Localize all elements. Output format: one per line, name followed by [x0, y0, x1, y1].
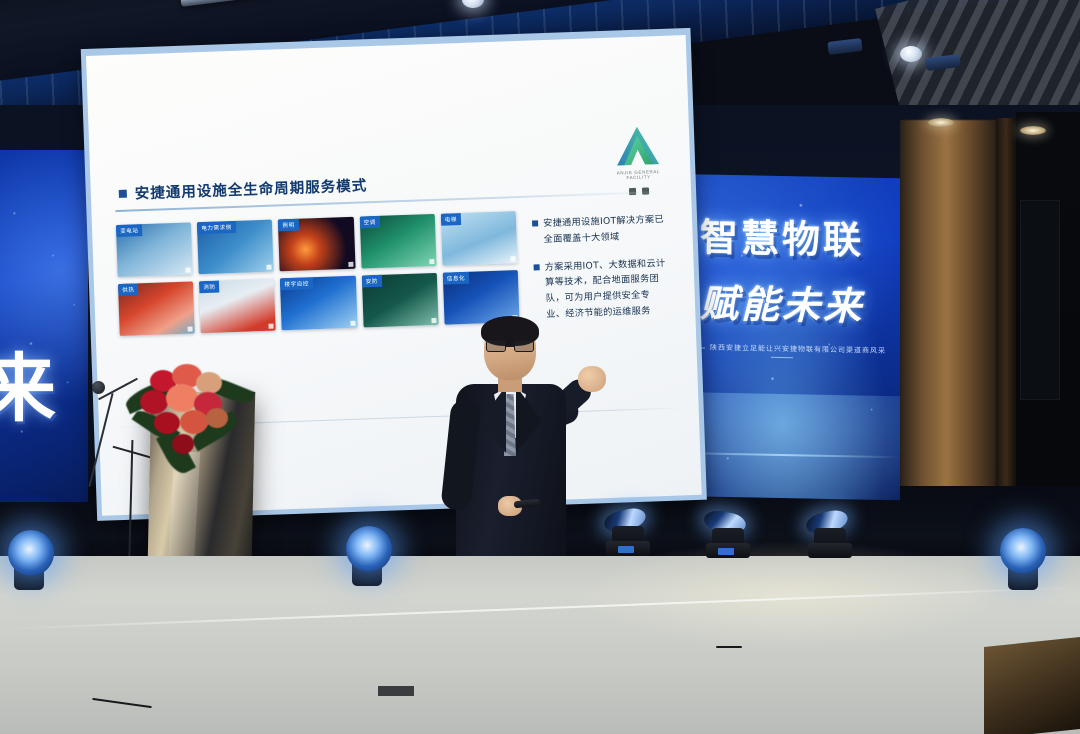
thumbnail-corner-mark-icon: [267, 265, 272, 270]
moving-head-badge: [618, 546, 634, 553]
thumbnail-corner-mark-icon: [269, 324, 274, 329]
glasses-bridge: [506, 345, 514, 347]
floor-cable: [716, 646, 742, 648]
thumbnail-item: 供热: [118, 281, 195, 336]
flower-petal: [166, 384, 198, 412]
glasses-icon: [486, 340, 534, 352]
stage-scene: 来 智慧物联 赋能未来 陕西安捷立足能让兴安捷物联有限公司渠道商风采: [0, 0, 1080, 734]
stage-monitor-wedge: [984, 637, 1080, 734]
led-sparkle-texture: [0, 150, 88, 502]
thumbnail-item: 空调: [359, 214, 436, 269]
title-bullet-square-icon: [119, 190, 127, 198]
stage-light-beam-icon: [8, 530, 54, 576]
led-subtitle-dash-right: [771, 356, 793, 357]
floor-prop-box: [378, 686, 414, 696]
thumbnail-corner-mark-icon: [350, 321, 355, 326]
thumbnail-corner-mark-icon: [510, 256, 515, 261]
led-wall-left-character: 来: [0, 352, 54, 426]
recess-panel: [1020, 200, 1060, 400]
flower-petal: [206, 408, 228, 428]
thumbnail-tag: 供热: [118, 283, 139, 296]
flower-arrangement: [128, 364, 254, 482]
moving-head-badge: [718, 548, 734, 555]
thumbnail-corner-mark-icon: [429, 259, 434, 264]
led-wall-left: 来: [0, 150, 88, 502]
bullet-text: 方案采用IOT、大数据和云计算等技术，配合地面服务团队，可为用户提供安全专业、经…: [544, 256, 667, 323]
flower-petal: [154, 412, 180, 434]
glasses-lens-left: [486, 340, 506, 352]
thumbnail-tag: 电力需求侧: [197, 221, 236, 234]
thumbnail-tag: 消防: [199, 280, 220, 293]
bullet-text: 安捷通用设施IOT解决方案已全面覆盖十大领域: [543, 212, 665, 248]
thumbnail-tag: 变电站: [116, 224, 143, 237]
moving-head-light: [600, 510, 656, 556]
thumbnail-corner-mark-icon: [188, 326, 193, 331]
slide-bullet-list: 安捷通用设施IOT解决方案已全面覆盖十大领域 方案采用IOT、大数据和云计算等技…: [532, 212, 668, 336]
presenter-right-hand: [578, 366, 606, 392]
flower-petal: [180, 410, 208, 434]
moving-head-light: [700, 512, 756, 558]
thumbnail-item: 电力需求侧: [197, 220, 274, 275]
slide-logo: ANJIE GENERAL FACILITY: [607, 124, 670, 201]
ceiling-light-fixture: [827, 38, 862, 55]
triangle-logo-icon: [614, 124, 661, 168]
thumbnail-tag: 信息化: [443, 272, 470, 285]
microphone-icon: [92, 381, 105, 394]
stage-light-beam-icon: [346, 526, 392, 572]
floor-light-pool: [580, 540, 1000, 650]
logo-caption: ANJIE GENERAL FACILITY: [608, 169, 668, 181]
flower-petal: [196, 372, 222, 394]
slide-title-text: 安捷通用设施全生命周期服务模式: [135, 178, 368, 202]
led-subtitle-text: 陕西安捷立足能让兴安捷物联有限公司渠道商风采: [710, 345, 886, 355]
thumbnail-grid: 变电站 电力需求侧 照明 空调 电梯 供热: [116, 211, 520, 336]
thumbnail-item: 安防: [361, 273, 438, 328]
thumbnail-corner-mark-icon: [186, 267, 191, 272]
thumbnail-tag: 楼宇自控: [280, 277, 313, 290]
thumbnail-item: 照明: [278, 217, 355, 272]
led-headline-line1: 智慧物联: [664, 218, 900, 261]
thumbnail-corner-mark-icon: [348, 262, 353, 267]
thumbnail-item: 变电站: [116, 222, 193, 277]
thumbnail-corner-mark-icon: [431, 318, 436, 323]
flower-petal: [140, 390, 168, 414]
bullet-square-icon: [534, 264, 540, 270]
thumbnail-tag: 照明: [278, 219, 299, 232]
thumbnail-item: 楼宇自控: [280, 276, 357, 331]
downlight-icon: [928, 118, 954, 127]
slide-title: 安捷通用设施全生命周期服务模式: [118, 174, 367, 204]
slide-bullet: 安捷通用设施IOT解决方案已全面覆盖十大领域: [532, 212, 665, 248]
thumbnail-tag: 安防: [361, 275, 382, 288]
bullet-square-icon: [532, 220, 538, 226]
thumbnail-tag: 电梯: [441, 213, 462, 226]
flower-petal: [172, 434, 194, 454]
thumbnail-item: 消防: [199, 279, 276, 334]
moving-head-base: [808, 543, 852, 558]
downlight-icon: [1020, 126, 1046, 135]
glasses-lens-right: [514, 340, 534, 352]
thumbnail-tag: 空调: [359, 216, 380, 229]
thumbnail-item: 电梯: [441, 211, 518, 266]
stage-light-beam-icon: [1000, 528, 1046, 574]
slide-bullet: 方案采用IOT、大数据和云计算等技术，配合地面服务团队，可为用户提供安全专业、经…: [533, 256, 667, 324]
ceiling-spotlight-icon: [900, 46, 922, 62]
moving-head-light: [802, 512, 858, 558]
